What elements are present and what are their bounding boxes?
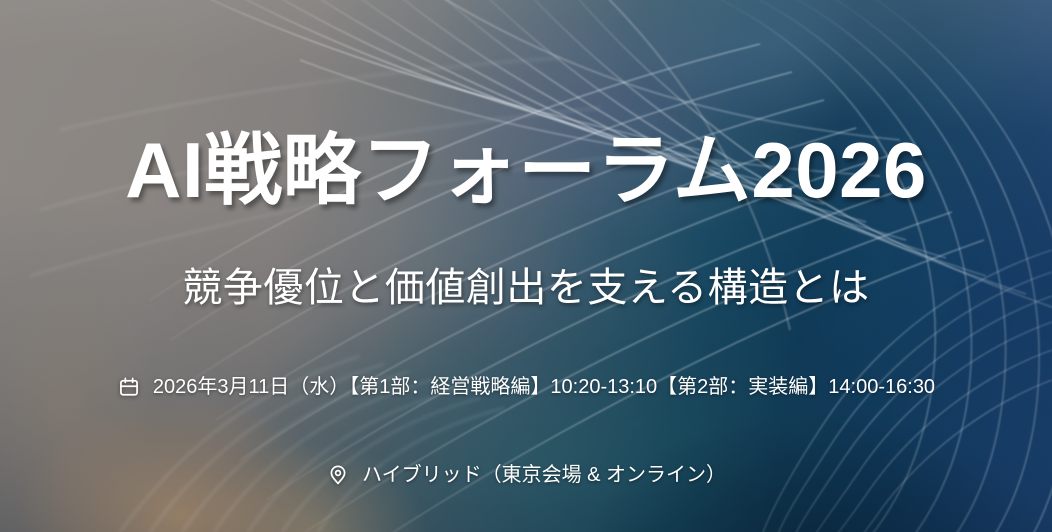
event-hero-banner: AI戦略フォーラム2026 競争優位と価値創出を支える構造とは 2026年3月1… [0,0,1052,532]
calendar-icon [117,375,141,399]
event-venue-row: ハイブリッド（東京会場 & オンライン） [0,462,1052,488]
event-venue-text: ハイブリッド（東京会場 & オンライン） [362,462,726,488]
event-subtitle: 競争優位と価値創出を支える構造とは [0,264,1052,312]
hero-content: AI戦略フォーラム2026 競争優位と価値創出を支える構造とは 2026年3月1… [0,0,1052,532]
event-date-row: 2026年3月11日（水）【第1部：経営戦略編】10:20-13:10【第2部：… [0,374,1052,400]
event-title: AI戦略フォーラム2026 [0,128,1052,212]
event-date-text: 2026年3月11日（水）【第1部：経営戦略編】10:20-13:10【第2部：… [153,374,935,400]
map-pin-icon [326,463,350,487]
